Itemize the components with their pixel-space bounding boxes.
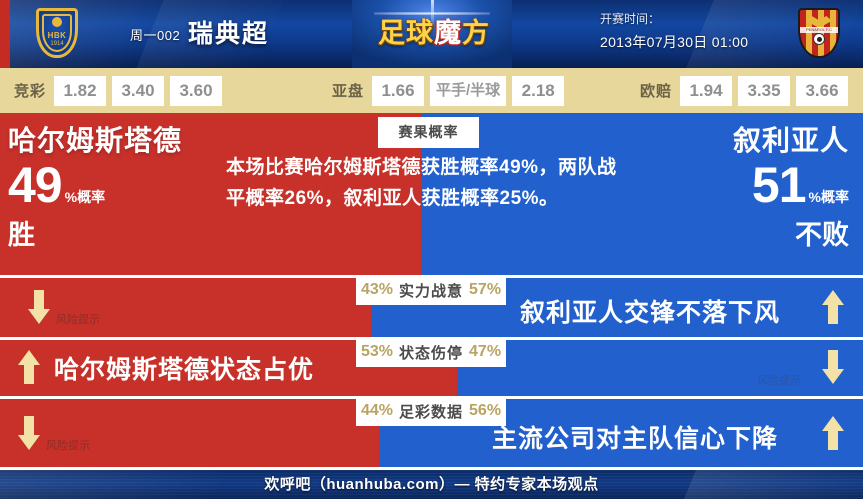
away-team-name: 叙利亚人 [619, 124, 849, 158]
up-arrow-icon [822, 416, 844, 450]
compare-row-message: 哈尔姆斯塔德状态占优 [54, 350, 314, 386]
away-team-crest-icon: PENAROL F.C [790, 5, 848, 63]
odds-group-european: 欧赔 1.94 3.35 3.66 [640, 68, 854, 113]
match-number: 周一002 [130, 25, 180, 44]
league-name: 瑞典超 [188, 14, 269, 50]
compare-row-message: 叙利亚人交锋不落下风 [520, 293, 780, 329]
tab-result-probability[interactable]: 赛果概率 [378, 117, 479, 148]
odds-cell-handicap[interactable]: 平手/半球 [430, 76, 506, 106]
home-team-crest-icon: HBK 1914 [28, 5, 86, 63]
odds-cell[interactable]: 2.18 [512, 76, 564, 106]
risk-note: 风险提示 [56, 311, 100, 327]
compare-left-percent: 53% [361, 343, 393, 361]
odds-cell[interactable]: 3.66 [796, 76, 848, 106]
odds-group-label: 亚盘 [332, 80, 364, 101]
compare-metric-name: 足彩数据 [399, 401, 463, 422]
probability-summary-text: 本场比赛哈尔姆斯塔德获胜概率49%，两队战平概率26%，叙利亚人获胜概率25%。 [226, 152, 626, 214]
down-arrow-icon [18, 416, 40, 450]
home-crest-year: 1914 [28, 41, 86, 47]
compare-row-left-fill [0, 399, 380, 467]
compare-metric-name: 状态伤停 [399, 342, 463, 363]
odds-group-asian-handicap: 亚盘 1.66 平手/半球 2.18 [332, 68, 570, 113]
compare-row-right-fill [457, 340, 863, 396]
header-bar: HBK 1914 周一002 瑞典超 足球魔方 开赛时间： 2013年07月30… [0, 0, 863, 68]
up-arrow-icon [18, 350, 40, 384]
down-arrow-icon [28, 290, 50, 324]
compare-row-label: 43% 实力战意 57% [356, 275, 506, 305]
compare-row-left-fill [0, 278, 371, 337]
brand-part-1: 足球 [378, 18, 434, 48]
compare-row-label: 53% 状态伤停 47% [356, 337, 506, 367]
brand-part-3: 方 [462, 18, 490, 48]
compare-left-percent: 44% [361, 402, 393, 420]
compare-left-percent: 43% [361, 281, 393, 299]
odds-cell[interactable]: 1.82 [54, 76, 106, 106]
compare-row-label: 44% 足彩数据 56% [356, 396, 506, 426]
odds-group-label: 欧赔 [640, 80, 672, 101]
away-win-percent: 51 [752, 160, 806, 210]
infographic-root: HBK 1914 周一002 瑞典超 足球魔方 开赛时间： 2013年07月30… [0, 0, 863, 499]
odds-cell[interactable]: 3.60 [170, 76, 222, 106]
away-percent-suffix: %概率 [809, 190, 849, 210]
odds-group-label: 竞彩 [14, 80, 46, 101]
home-team-name: 哈尔姆斯塔德 [8, 124, 223, 158]
footer-credit: 欢呼吧（huanhuba.com）— 特约专家本场观点 [0, 470, 863, 499]
up-arrow-icon [822, 290, 844, 324]
home-crest-text: HBK [28, 31, 86, 40]
home-team-block: 哈尔姆斯塔德 49 %概率 胜 [8, 124, 223, 252]
down-arrow-icon [822, 350, 844, 384]
brand-part-2: 魔 [434, 18, 462, 48]
footer-bar: 欢呼吧（huanhuba.com）— 特约专家本场观点 [0, 470, 863, 499]
brand-logo: 足球魔方 [372, 14, 496, 52]
odds-cell[interactable]: 1.66 [372, 76, 424, 106]
home-win-percent: 49 [8, 160, 62, 210]
odds-bar: 竞彩 1.82 3.40 3.60 亚盘 1.66 平手/半球 2.18 欧赔 … [0, 68, 863, 113]
kickoff-time: 2013年07月30日 01:00 [600, 32, 748, 52]
compare-row-message: 主流公司对主队信心下降 [492, 419, 778, 455]
compare-right-percent: 47% [469, 343, 501, 361]
risk-note: 风险提示 [46, 437, 90, 453]
risk-note: 风险提示 [757, 372, 801, 388]
odds-group-jingcai: 竞彩 1.82 3.40 3.60 [14, 68, 228, 113]
compare-metric-name: 实力战意 [399, 280, 463, 301]
kickoff-label: 开赛时间： [600, 10, 660, 27]
home-percent-suffix: %概率 [65, 190, 105, 210]
odds-cell[interactable]: 1.94 [680, 76, 732, 106]
odds-cell[interactable]: 3.35 [738, 76, 790, 106]
home-outcome-label: 胜 [8, 213, 223, 252]
away-outcome-label: 不败 [619, 213, 849, 252]
left-accent-stripe [0, 0, 10, 68]
compare-right-percent: 57% [469, 281, 501, 299]
compare-right-percent: 56% [469, 402, 501, 420]
odds-cell[interactable]: 3.40 [112, 76, 164, 106]
away-team-block: 叙利亚人 51 %概率 不败 [619, 124, 849, 252]
